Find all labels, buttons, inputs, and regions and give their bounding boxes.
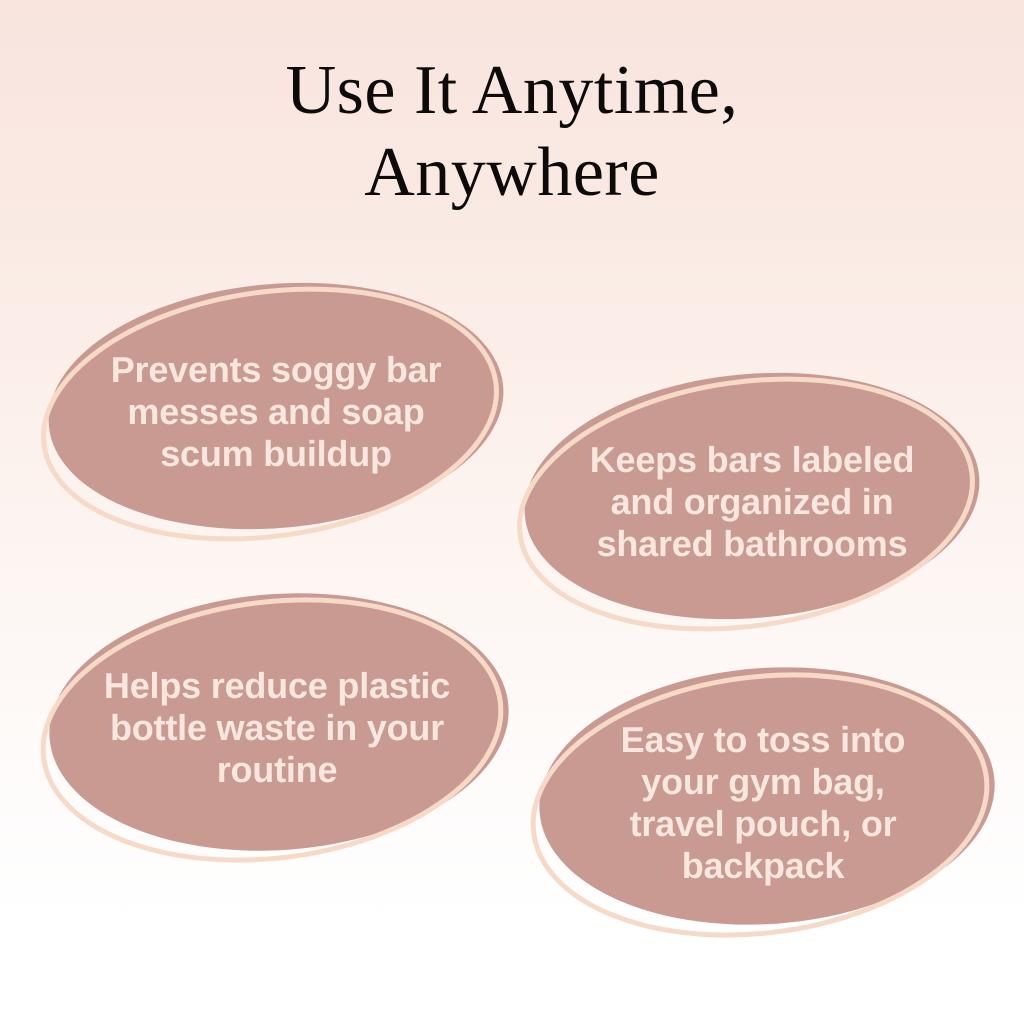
benefit-text-4: Easy to toss into your gym bag, travel p… xyxy=(522,662,1004,944)
benefit-text-2: Keeps bars labeled and organized in shar… xyxy=(512,368,992,636)
benefit-card-1[interactable]: Prevents soggy bar messes and soap scum … xyxy=(36,278,516,546)
benefit-text-1: Prevents soggy bar messes and soap scum … xyxy=(36,278,516,546)
page-title: Use It Anytime, Anywhere xyxy=(0,50,1024,214)
poster-canvas: Use It Anytime, Anywhere Prevents soggy … xyxy=(0,0,1024,1024)
benefit-card-3[interactable]: Helps reduce plastic bottle waste in you… xyxy=(36,588,518,868)
benefit-card-4[interactable]: Easy to toss into your gym bag, travel p… xyxy=(522,662,1004,944)
benefit-card-2[interactable]: Keeps bars labeled and organized in shar… xyxy=(512,368,992,636)
benefit-text-3: Helps reduce plastic bottle waste in you… xyxy=(36,588,518,868)
